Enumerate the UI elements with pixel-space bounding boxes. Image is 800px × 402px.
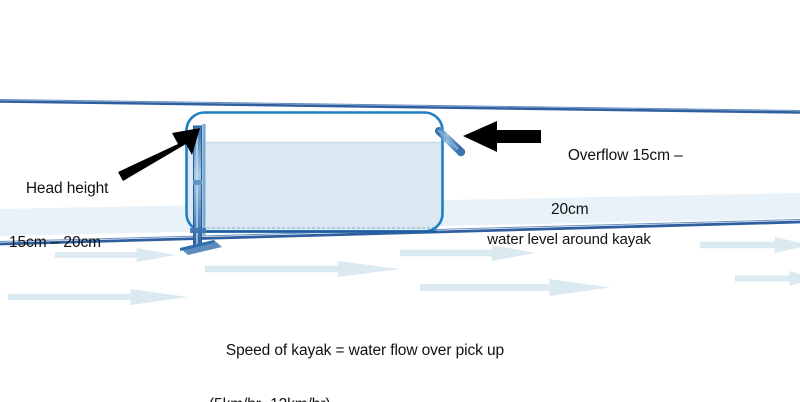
kayak-tank <box>186 112 444 234</box>
overflow-label-line1: Overflow 15cm – <box>568 147 683 164</box>
diagram-canvas: Head height 15cm – 20cm Overflow 15cm – … <box>0 0 800 402</box>
upper-water-surface-line <box>0 100 800 113</box>
speed-of-kayak-label: Speed of kayak = water flow over pick up… <box>209 310 504 402</box>
flow-arrow-2 <box>205 261 400 277</box>
head-height-label: Head height 15cm – 20cm <box>9 148 108 311</box>
speed-label-line2: (5km/hr- 12km/hr) <box>209 391 504 402</box>
water-level-label-line1: water level around kayak <box>487 231 651 248</box>
speed-label-line1: Speed of kayak = water flow over pick up <box>226 342 504 359</box>
tank-water-fill <box>186 142 444 234</box>
tank-air-gap <box>186 112 444 142</box>
water-level-label: water level around kayak <box>471 201 651 280</box>
flow-arrow-6 <box>700 237 800 253</box>
overflow-callout-arrow <box>463 121 541 152</box>
head-height-label-line2: 15cm – 20cm <box>9 229 108 256</box>
flow-arrow-7 <box>735 271 800 286</box>
head-height-label-line1: Head height <box>26 180 109 197</box>
flow-arrow-5 <box>420 279 610 296</box>
